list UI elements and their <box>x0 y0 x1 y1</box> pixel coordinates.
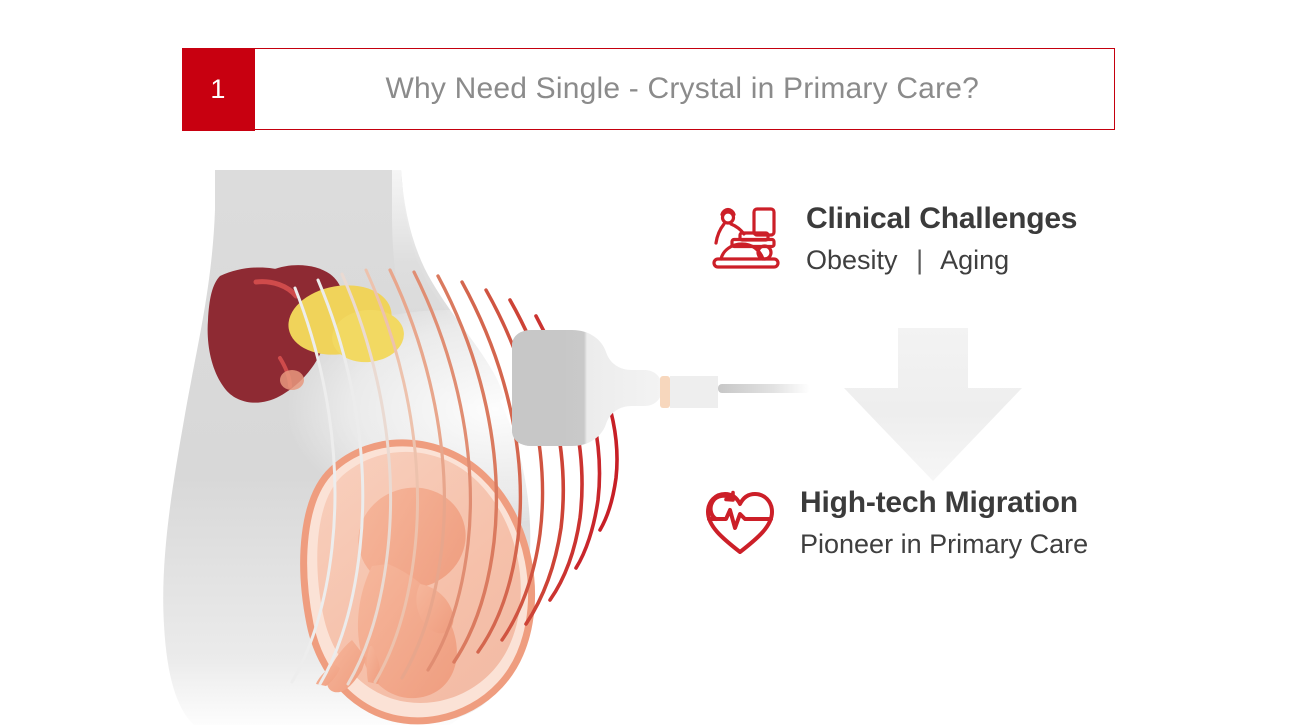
feature-sub-part-2: Aging <box>940 245 1009 275</box>
content-column: Clinical Challenges Obesity | Aging <box>700 195 1170 615</box>
ultrasound-exam-icon <box>708 201 784 277</box>
slide-title-container: Why Need Single - Crystal in Primary Car… <box>255 49 1115 129</box>
slide-root: 1 Why Need Single - Crystal in Primary C… <box>0 0 1290 725</box>
page-title: Why Need Single - Crystal in Primary Car… <box>385 72 979 106</box>
feature-sub-part-1: Obesity <box>806 245 898 275</box>
feature-title: High-tech Migration <box>800 487 1088 519</box>
heart-pulse-refresh-icon <box>702 485 778 561</box>
feature-sub-part-1: Pioneer in Primary Care <box>800 529 1088 559</box>
feature-sub-divider: | <box>905 246 934 276</box>
feature-high-tech-migration: High-tech Migration Pioneer in Primary C… <box>702 485 1088 561</box>
feature-subtitle: Pioneer in Primary Care <box>800 530 1088 560</box>
feature-title: Clinical Challenges <box>806 203 1077 235</box>
feature-text-block: High-tech Migration Pioneer in Primary C… <box>800 485 1088 560</box>
feature-text-block: Clinical Challenges Obesity | Aging <box>806 201 1077 276</box>
slide-number-badge: 1 <box>182 48 255 131</box>
feature-clinical-challenges: Clinical Challenges Obesity | Aging <box>708 201 1077 277</box>
slide-number-label: 1 <box>210 76 225 103</box>
slide-header-banner: 1 Why Need Single - Crystal in Primary C… <box>182 48 1115 130</box>
feature-subtitle: Obesity | Aging <box>806 246 1077 276</box>
